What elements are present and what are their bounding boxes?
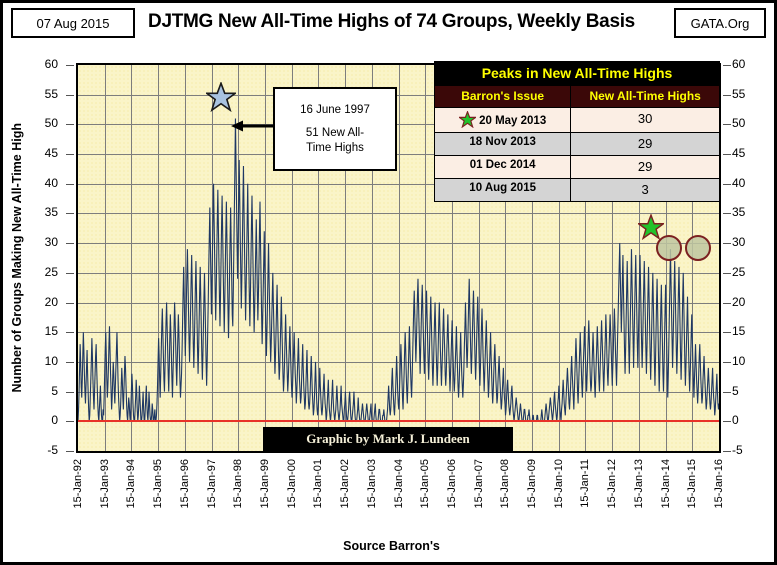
y-tick-mark — [723, 124, 731, 125]
cell-highs: 29 — [571, 132, 719, 155]
x-tick-label: 15-Jan-05 — [419, 459, 431, 509]
y-tick-mark — [723, 243, 731, 244]
y-tick-label: -5 — [732, 444, 772, 456]
y-tick-mark — [66, 65, 74, 66]
table-row: 20 May 201330 — [435, 107, 719, 132]
x-tick-label: 15-Jan-01 — [312, 459, 324, 509]
cell-issue: 18 Nov 2013 — [435, 132, 571, 155]
y-tick-mark — [66, 421, 74, 422]
x-tick-label: 15-Jan-98 — [232, 459, 244, 509]
x-tick-label: 15-Jan-03 — [366, 459, 378, 509]
green-star-icon — [459, 111, 476, 128]
y-tick-label: 5 — [18, 385, 58, 397]
x-tick-label: 15-Jan-95 — [152, 459, 164, 509]
circle-marker — [656, 235, 682, 261]
y-tick-label: 45 — [732, 147, 772, 159]
y-tick-label: 35 — [732, 206, 772, 218]
y-tick-mark — [66, 392, 74, 393]
y-tick-label: 25 — [732, 266, 772, 278]
x-tick-label: 15-Jan-06 — [446, 459, 458, 509]
cell-issue: 10 Aug 2015 — [435, 178, 571, 201]
y-tick-mark — [723, 392, 731, 393]
column-header-issue: Barron's Issue — [435, 85, 571, 107]
peaks-table: Peaks in New All-Time Highs Barron's Iss… — [434, 61, 720, 202]
y-tick-label: 15 — [732, 325, 772, 337]
x-tick-label: 15-Jan-07 — [473, 459, 485, 509]
callout-arrow-icon — [231, 120, 279, 132]
y-tick-mark — [723, 213, 731, 214]
callout-box: 16 June 1997 51 New All- Time Highs — [273, 87, 397, 171]
chart-root: 07 Aug 2015 GATA.Org DJTMG New All-Time … — [0, 0, 777, 565]
cell-highs: 3 — [571, 178, 719, 201]
x-tick-label: 15-Jan-96 — [179, 459, 191, 509]
x-tick-label: 15-Jan-93 — [99, 459, 111, 509]
y-tick-label: 50 — [18, 117, 58, 129]
y-tick-mark — [66, 332, 74, 333]
y-tick-label: 40 — [18, 177, 58, 189]
y-tick-label: 60 — [18, 58, 58, 70]
peaks-table-header: Barron's Issue New All-Time Highs — [435, 85, 719, 107]
table-row: 10 Aug 20153 — [435, 178, 719, 201]
callout-line-2: 51 New All- Time Highs — [306, 126, 364, 155]
x-tick-label: 15-Jan-94 — [125, 459, 137, 509]
y-tick-label: 40 — [732, 177, 772, 189]
y-tick-label: 45 — [18, 147, 58, 159]
y-tick-label: -5 — [18, 444, 58, 456]
x-tick-label: 15-Jan-99 — [259, 459, 271, 509]
table-row: 18 Nov 201329 — [435, 132, 719, 155]
y-tick-label: 20 — [18, 296, 58, 308]
x-tick-label: 15-Jan-04 — [393, 459, 405, 509]
y-tick-mark — [723, 95, 731, 96]
y-tick-mark — [66, 124, 74, 125]
y-tick-label: 20 — [732, 296, 772, 308]
cell-issue: 20 May 2013 — [435, 107, 571, 132]
y-tick-mark — [66, 95, 74, 96]
peaks-table-body: 20 May 20133018 Nov 20132901 Dec 2014291… — [435, 107, 719, 201]
y-tick-mark — [723, 421, 731, 422]
y-tick-label: 60 — [732, 58, 772, 70]
x-tick-label: 15-Jan-97 — [206, 459, 218, 509]
y-tick-label: 0 — [732, 414, 772, 426]
green-star-marker — [638, 214, 664, 240]
peaks-table-title: Peaks in New All-Time Highs — [435, 62, 719, 85]
y-tick-mark — [66, 213, 74, 214]
x-tick-label: 15-Jan-15 — [686, 459, 698, 509]
x-axis-title: Source Barron's — [3, 539, 777, 553]
y-tick-mark — [723, 451, 731, 452]
x-tick-label: 15-Jan-00 — [286, 459, 298, 509]
y-tick-mark — [66, 451, 74, 452]
y-tick-label: 35 — [18, 206, 58, 218]
y-tick-mark — [723, 154, 731, 155]
x-tick-label: 15-Jan-12 — [606, 459, 618, 509]
callout-line-1: 16 June 1997 — [300, 103, 370, 117]
credit-banner: Graphic by Mark J. Lundeen — [263, 427, 513, 451]
y-tick-label: 5 — [732, 385, 772, 397]
cell-highs: 30 — [571, 107, 719, 132]
x-tick-label: 15-Jan-08 — [499, 459, 511, 509]
y-tick-label: 30 — [732, 236, 772, 248]
x-tick-label: 15-Jan-11 — [579, 459, 591, 508]
cell-highs: 29 — [571, 155, 719, 178]
y-tick-mark — [723, 65, 731, 66]
x-tick-label: 15-Jan-13 — [633, 459, 645, 509]
x-tick-label: 15-Jan-09 — [526, 459, 538, 509]
y-tick-label: 30 — [18, 236, 58, 248]
x-tick-label: 15-Jan-14 — [660, 459, 672, 509]
y-tick-mark — [66, 243, 74, 244]
circle-marker — [685, 235, 711, 261]
y-tick-mark — [66, 303, 74, 304]
x-tick-label: 15-Jan-16 — [713, 459, 725, 509]
y-tick-label: 10 — [732, 355, 772, 367]
column-header-highs: New All-Time Highs — [571, 85, 719, 107]
cell-issue: 01 Dec 2014 — [435, 155, 571, 178]
y-tick-mark — [723, 362, 731, 363]
page-title: DJTMG New All-Time Highs of 74 Groups, W… — [3, 11, 777, 33]
y-tick-label: 0 — [18, 414, 58, 426]
y-tick-mark — [723, 332, 731, 333]
y-tick-mark — [66, 273, 74, 274]
y-tick-mark — [723, 303, 731, 304]
y-tick-mark — [66, 362, 74, 363]
y-tick-mark — [66, 184, 74, 185]
y-tick-label: 25 — [18, 266, 58, 278]
x-tick-label: 15-Jan-10 — [553, 459, 565, 509]
y-tick-label: 50 — [732, 117, 772, 129]
y-tick-label: 15 — [18, 325, 58, 337]
x-tick-label: 15-Jan-92 — [72, 459, 84, 509]
table-row: 01 Dec 201429 — [435, 155, 719, 178]
blue-star-marker — [206, 82, 236, 112]
y-tick-label: 10 — [18, 355, 58, 367]
x-tick-label: 15-Jan-02 — [339, 459, 351, 509]
zero-line — [78, 420, 719, 422]
y-tick-mark — [723, 184, 731, 185]
y-tick-label: 55 — [732, 88, 772, 100]
y-tick-mark — [66, 154, 74, 155]
y-tick-label: 55 — [18, 88, 58, 100]
y-tick-mark — [723, 273, 731, 274]
